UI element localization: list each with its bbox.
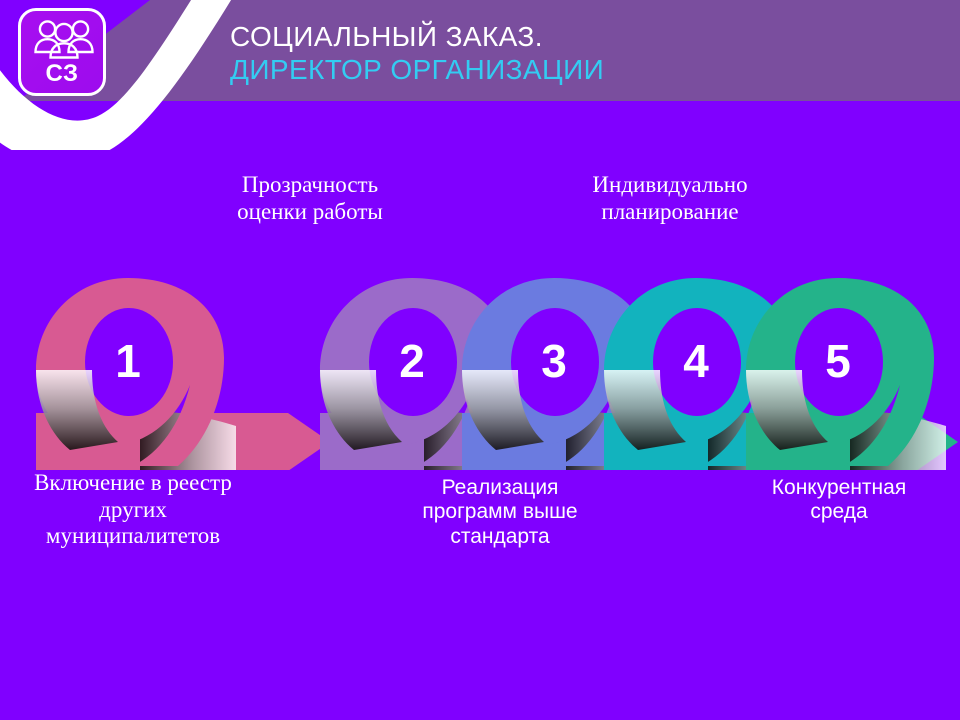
step-label-4: Индивидуально планирование — [520, 172, 820, 225]
ribbon-step-5: 5 — [746, 278, 958, 470]
page-title-line1: СОЦИАЛЬНЫЙ ЗАКАЗ. — [230, 20, 604, 53]
step-number-3: 3 — [541, 335, 567, 387]
step-number-4: 4 — [683, 335, 709, 387]
step-number-1: 1 — [115, 335, 141, 387]
page-title: СОЦИАЛЬНЫЙ ЗАКАЗ. ДИРЕКТОР ОРГАНИЗАЦИИ — [230, 20, 604, 86]
step-label-1: Включение в реестр других муниципалитето… — [0, 470, 268, 550]
step-label-5: Конкурентная среда — [718, 476, 960, 525]
step-number-5: 5 — [825, 335, 851, 387]
logo-abbreviation: СЗ — [21, 60, 103, 88]
page-title-line2: ДИРЕКТОР ОРГАНИЗАЦИИ — [230, 53, 604, 86]
people-group-icon — [32, 18, 96, 63]
process-ribbon-diagram: 1 2 3 4 — [0, 250, 960, 470]
step-label-2: Прозрачность оценки работы — [150, 172, 470, 225]
logo: СЗ — [18, 8, 106, 96]
step-label-3: Реализация программ выше стандарта — [360, 476, 640, 549]
step-number-2: 2 — [399, 335, 425, 387]
slide-canvas: СОЦИАЛЬНЫЙ ЗАКАЗ. ДИРЕКТОР ОРГАНИЗАЦИИ С… — [0, 0, 960, 720]
